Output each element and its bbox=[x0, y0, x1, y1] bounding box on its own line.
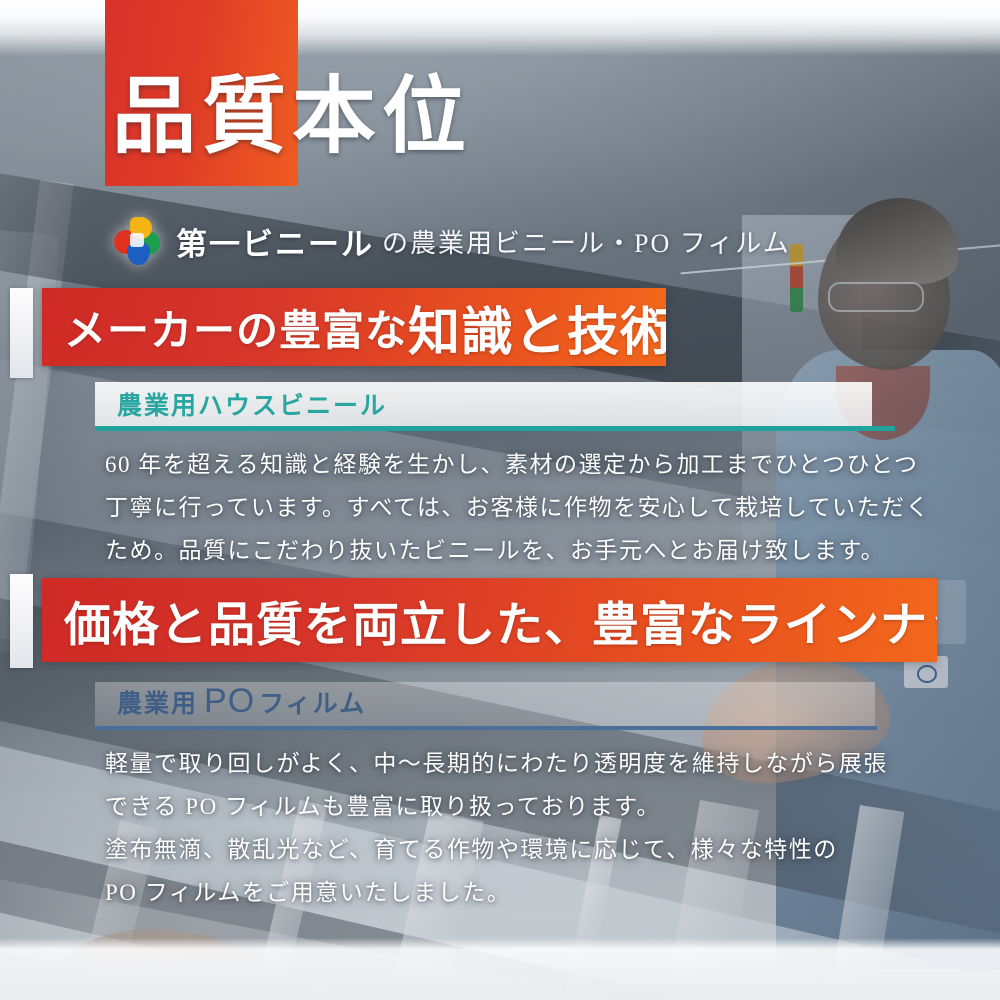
page-title: 品質本位 bbox=[112, 76, 472, 160]
section-1-headline: メーカーの豊富な 知識と技術 bbox=[42, 288, 666, 366]
section-1-body: 60 年を超える知識と経験を生かし、素材の選定から加工までひとつひとつ 丁寧に行… bbox=[105, 443, 930, 572]
brand-row: 第一ビニール の農業用ビニール・PO フィルム bbox=[112, 216, 791, 266]
section-2-headline: 価格と品質を両立した、豊富なラインナップ bbox=[42, 578, 937, 662]
section-1-subheading: 農業用ハウスビニール bbox=[95, 386, 387, 422]
section-2-subheading-suffix: フィルム bbox=[259, 684, 366, 720]
section-2-body: 軽量で取り回しがよく、中〜長期的にわたり透明度を維持しながら展張 できる PO … bbox=[105, 742, 888, 914]
section-1-headline-part-2: 知識と技術 bbox=[408, 290, 666, 365]
section-2-subheading-rule bbox=[95, 726, 877, 730]
body-line: PO フィルムをご用意いたしました。 bbox=[105, 871, 888, 914]
four-petal-flower-logo-icon bbox=[112, 216, 162, 266]
section-1-headline-part-1: メーカーの豊富な bbox=[64, 297, 408, 358]
section-2-subheading-band: 農業用 PO フィルム bbox=[95, 682, 875, 726]
section-1-subheading-rule bbox=[95, 426, 895, 431]
section-2-subheading-prefix: 農業用 bbox=[95, 684, 198, 720]
body-line: 塗布無滴、散乱光など、育てる作物や環境に応じて、様々な特性の bbox=[105, 828, 888, 871]
body-line: ため。品質にこだわり抜いたビニールを、お手元へとお届け致します。 bbox=[105, 529, 930, 572]
headline-accent-tab bbox=[10, 288, 33, 378]
promo-banner: 品質本位 第一ビニール の農業用ビニール・PO フィルム メーカーの豊富な 知識… bbox=[0, 0, 1000, 1000]
brand-tagline: の農業用ビニール・PO フィルム bbox=[382, 223, 791, 260]
section-2-subheading-po: PO bbox=[204, 682, 255, 721]
headline-accent-tab bbox=[10, 574, 33, 668]
body-line: 軽量で取り回しがよく、中〜長期的にわたり透明度を維持しながら展張 bbox=[105, 742, 888, 785]
body-line: できる PO フィルムも豊富に取り扱っております。 bbox=[105, 785, 888, 828]
company-name: 第一ビニール bbox=[176, 219, 374, 264]
section-1-subheading-band: 農業用ハウスビニール bbox=[95, 382, 872, 426]
body-line: 60 年を超える知識と経験を生かし、素材の選定から加工までひとつひとつ bbox=[105, 443, 930, 486]
logo-center bbox=[130, 233, 144, 247]
section-2-headline-text: 価格と品質を両立した、豊富なラインナップ bbox=[64, 586, 937, 655]
body-line: 丁寧に行っています。すべては、お客様に作物を安心して栽培していただく bbox=[105, 486, 930, 529]
